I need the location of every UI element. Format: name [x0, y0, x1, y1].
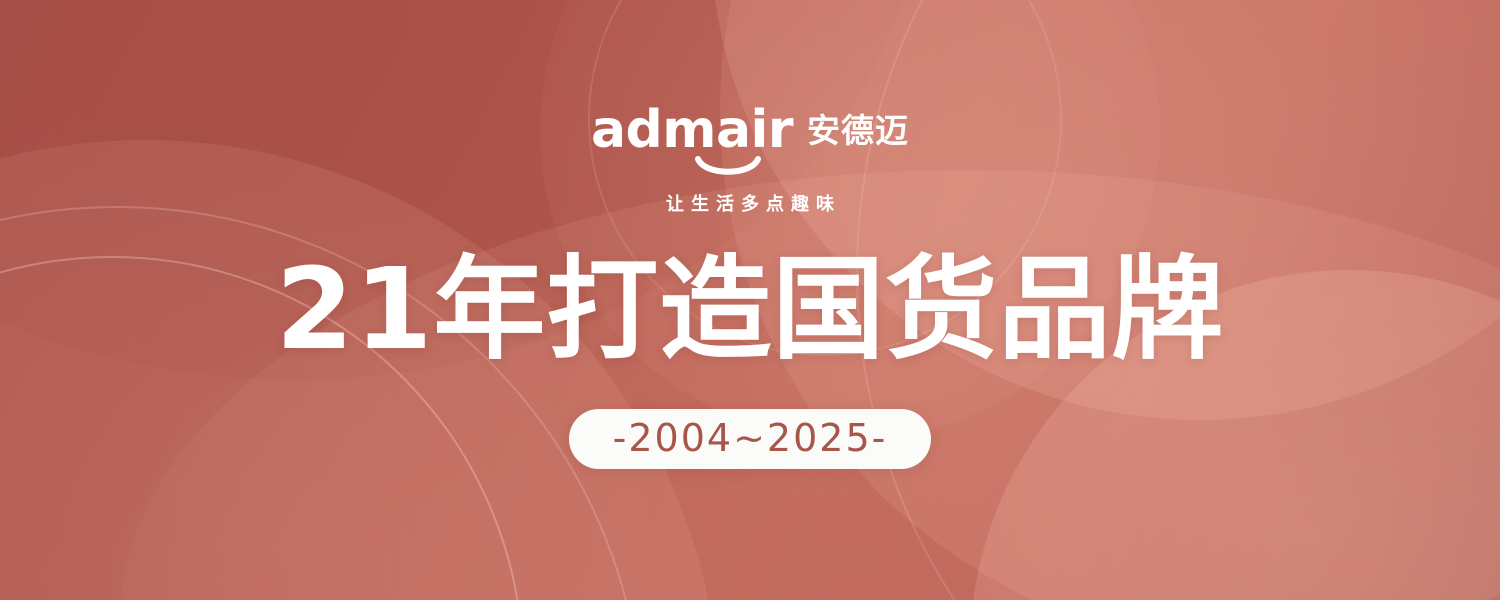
year-range-badge: -2004~2025-	[569, 409, 932, 469]
promo-banner: admair 安德迈 让生活多点趣味 21年打造国货品牌 -2004~2025-	[0, 0, 1500, 600]
smile-curve-icon	[695, 156, 761, 180]
logo-inner: admair 安德迈	[591, 104, 909, 160]
brand-wordmark-text: admair	[591, 100, 793, 160]
headline-title: 21年打造国货品牌	[0, 254, 1500, 366]
brand-chinese-name: 安德迈	[807, 114, 909, 150]
brand-wordmark: admair	[591, 104, 793, 160]
brand-tagline: 让生活多点趣味	[0, 190, 1500, 216]
brand-logo-lockup: admair 安德迈	[0, 104, 1500, 160]
banner-content: admair 安德迈 让生活多点趣味 21年打造国货品牌 -2004~2025-	[0, 0, 1500, 600]
year-pill-wrapper: -2004~2025-	[0, 409, 1500, 469]
